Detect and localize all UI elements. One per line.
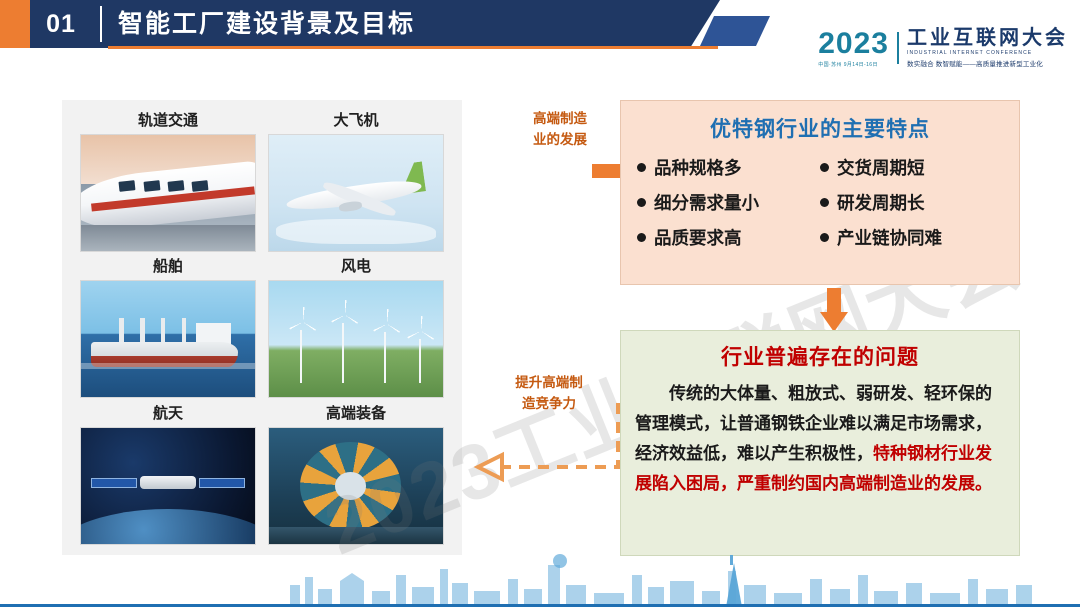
space-station-photo <box>80 427 256 545</box>
logo-year: 2023 <box>818 29 889 59</box>
bullet-icon <box>637 198 646 207</box>
feature-item: 品种规格多 <box>637 155 820 180</box>
header-underline <box>108 46 718 49</box>
footer-skyline-decoration <box>0 545 1080 607</box>
conference-logo: 2023 中国·苏州 9月14日-16日 工业互联网大会 INDUSTRIAL … <box>818 28 1068 68</box>
feature-label: 研发周期长 <box>837 190 925 215</box>
problems-title: 行业普遍存在的问题 <box>621 341 1019 371</box>
logo-name-block: 工业互联网大会 INDUSTRIAL INTERNET CONFERENCE 数… <box>907 28 1068 68</box>
photo-label: 船舶 <box>80 254 256 280</box>
photo-label: 风电 <box>268 254 444 280</box>
logo-name-cn: 工业互联网大会 <box>907 28 1068 48</box>
feature-item: 研发周期长 <box>820 190 1003 215</box>
feature-label: 品质要求高 <box>654 225 742 250</box>
problems-box: 行业普遍存在的问题 传统的大体量、粗放式、弱研发、轻环保的管理模式，让普通钢铁企… <box>620 330 1020 556</box>
feature-item: 交货周期短 <box>820 155 1003 180</box>
feature-label: 品种规格多 <box>654 155 742 180</box>
photo-cell-rail-transit: 轨道交通 <box>80 108 256 252</box>
photo-cell-aerospace: 航天 <box>80 401 256 545</box>
wind-turbines-photo <box>268 280 444 398</box>
bullet-icon <box>820 163 829 172</box>
feature-label: 交货周期短 <box>837 155 925 180</box>
photo-cell-high-end-equipment: 高端装备 <box>268 401 444 545</box>
logo-tagline: 数实融合 数智赋能——高质量推进新型工业化 <box>907 58 1068 68</box>
downward-arrow-icon <box>820 288 848 330</box>
logo-year-block: 2023 中国·苏州 9月14日-16日 <box>818 29 889 68</box>
logo-year-subtitle: 中国·苏州 9月14日-16日 <box>818 61 889 68</box>
photo-label: 大飞机 <box>268 108 444 134</box>
photo-label: 高端装备 <box>268 401 444 427</box>
feedback-arrow-icon <box>472 395 622 505</box>
photo-grid: 轨道交通 大飞机 <box>62 100 462 555</box>
header-divider <box>100 6 102 42</box>
industry-photo-panel: 轨道交通 大飞机 <box>62 100 462 555</box>
section-number: 01 <box>38 7 84 41</box>
page-title: 智能工厂建设背景及目标 <box>118 6 415 42</box>
slide-header: 01 智能工厂建设背景及目标 <box>0 0 780 50</box>
logo-name-en: INDUSTRIAL INTERNET CONFERENCE <box>907 50 1068 56</box>
features-box: 优特钢行业的主要特点 品种规格多 交货周期短 细分需求量小 研发周期长 品质要求… <box>620 100 1020 285</box>
slide-canvas: 01 智能工厂建设背景及目标 2023 中国·苏州 9月14日-16日 工业互联… <box>0 0 1080 607</box>
bullet-icon <box>637 163 646 172</box>
feature-item: 细分需求量小 <box>637 190 820 215</box>
airliner-photo <box>268 134 444 252</box>
bullet-icon <box>637 233 646 242</box>
feature-label: 细分需求量小 <box>654 190 759 215</box>
feature-label: 产业链协同难 <box>837 225 942 250</box>
photo-cell-ship: 船舶 <box>80 254 256 398</box>
high-speed-train-photo <box>80 134 256 252</box>
features-list: 品种规格多 交货周期短 细分需求量小 研发周期长 品质要求高 产业链协同难 <box>637 155 1003 250</box>
forward-arrow-label: 高端制造业的发展 <box>533 108 599 150</box>
feature-item: 产业链协同难 <box>820 225 1003 250</box>
header-orange-accent <box>0 0 30 48</box>
photo-cell-wind-power: 风电 <box>268 254 444 398</box>
features-title: 优特钢行业的主要特点 <box>621 113 1019 143</box>
photo-label: 航天 <box>80 401 256 427</box>
feature-item: 品质要求高 <box>637 225 820 250</box>
tunnel-boring-machine-photo <box>268 427 444 545</box>
problems-body: 传统的大体量、粗放式、弱研发、轻环保的管理模式，让普通钢铁企业难以满足市场需求，… <box>635 379 1005 499</box>
logo-separator <box>897 32 899 64</box>
bullet-icon <box>820 198 829 207</box>
photo-cell-large-aircraft: 大飞机 <box>268 108 444 252</box>
bullet-icon <box>820 233 829 242</box>
photo-label: 轨道交通 <box>80 108 256 134</box>
cargo-ship-photo <box>80 280 256 398</box>
